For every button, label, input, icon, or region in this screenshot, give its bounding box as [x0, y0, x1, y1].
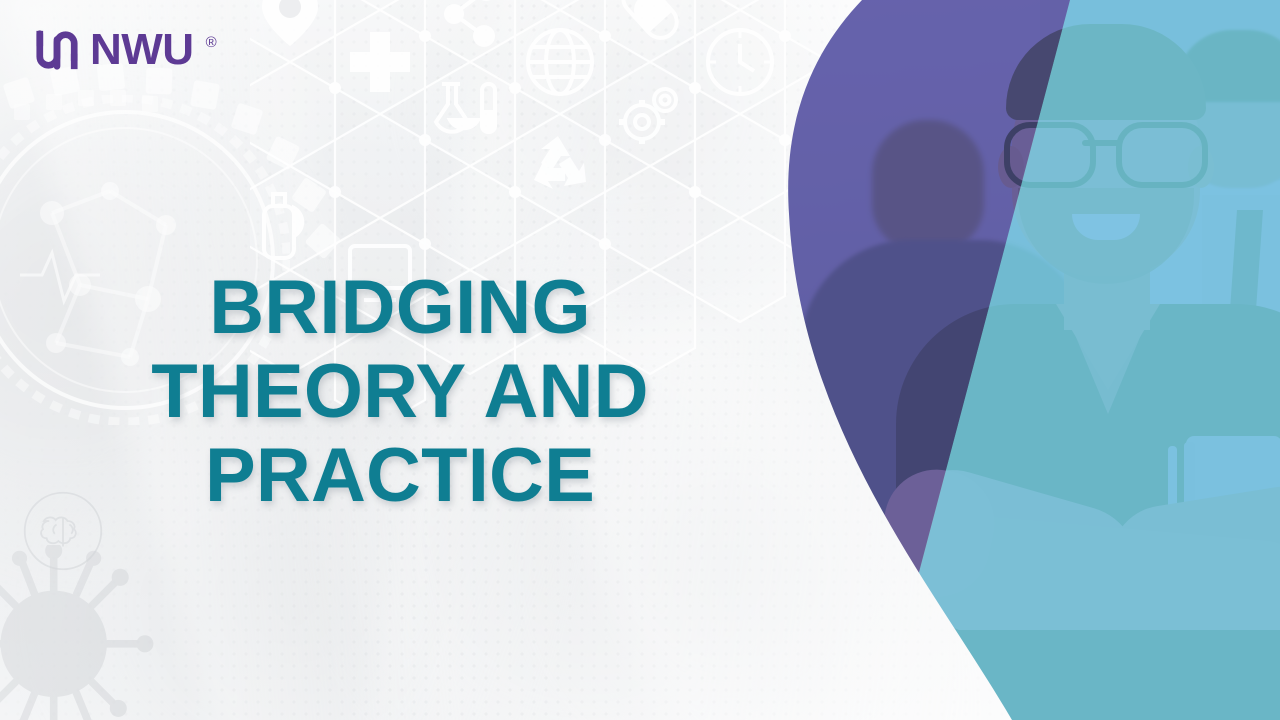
nwu-wordmark: NWU	[90, 28, 194, 72]
page-title: BRIDGING THEORY AND PRACTICE	[0, 266, 800, 518]
title-line-3: PRACTICE	[0, 434, 800, 518]
registered-trademark-icon: ®	[206, 34, 217, 51]
nwu-interlocking-mark-icon	[34, 28, 80, 72]
slide-canvas: BRIDGING THEORY AND PRACTICE NWU ®	[0, 0, 1280, 720]
title-line-2: THEORY AND	[0, 350, 800, 434]
title-line-1: BRIDGING	[0, 266, 800, 350]
nwu-logo[interactable]: NWU ®	[34, 28, 217, 72]
